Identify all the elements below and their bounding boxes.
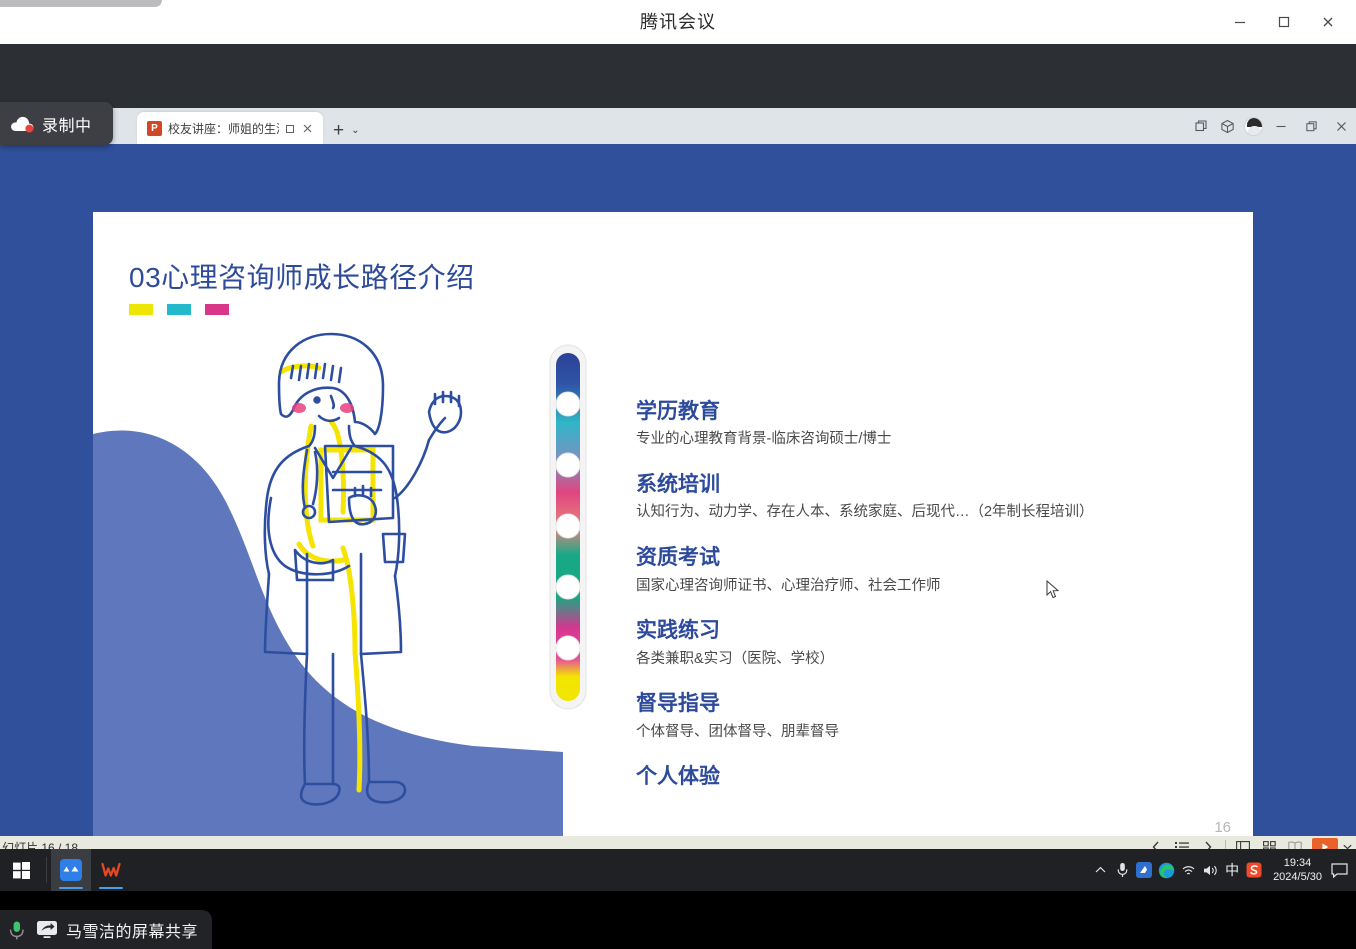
show-hidden-icons-button[interactable]: [1089, 849, 1111, 891]
edge-icon: [1158, 862, 1175, 879]
restore-icon: [1305, 120, 1318, 133]
wifi-icon: [1181, 864, 1196, 877]
presentation-canvas: 03心理咨询师成长路径介绍: [0, 144, 1356, 836]
notification-center-button[interactable]: [1326, 849, 1352, 891]
item-subtext: 专业的心理教育背景-临床咨询硕士/博士: [636, 429, 1236, 451]
active-indicator: [99, 887, 123, 889]
counselor-illustration: [93, 322, 563, 844]
screen-share-icon[interactable]: [36, 920, 58, 940]
maximize-icon: [1277, 15, 1291, 29]
taskbar-clock[interactable]: 19:34 2024/5/30: [1273, 856, 1322, 885]
counselor-line-art: [93, 322, 563, 844]
item-heading: 资质考试: [636, 544, 1236, 572]
wps-tabstrip: W 找稻壳模板 P 校友讲座：师姐的生涯参考会… + ⌄: [0, 108, 1356, 144]
volume-icon: [1203, 864, 1218, 877]
list-item: 系统培训 认知行为、动力学、存在人本、系统家庭、后现代…（2年制长程培训）: [636, 471, 1236, 524]
chevron-up-icon: [1095, 866, 1106, 874]
taskbar-item-meeting[interactable]: [51, 849, 91, 891]
wps-minimize-button[interactable]: [1266, 111, 1296, 141]
slide-title: 03心理咨询师成长路径介绍: [129, 256, 475, 296]
list-item: 实践练习 各类兼职&实习（医院、学校）: [636, 617, 1236, 670]
item-heading: 督导指导: [636, 690, 1236, 718]
meeting-window-controls: [1218, 4, 1350, 40]
list-item: 个人体验: [636, 763, 1236, 791]
wps-titlebar-right: [1188, 108, 1356, 144]
wps-tab-label: 校友讲座：师姐的生涯参考会…: [168, 120, 279, 137]
meeting-maximize-button[interactable]: [1262, 4, 1306, 40]
slide-content: 03心理咨询师成长路径介绍: [93, 212, 1253, 844]
slide-page-number: 16: [1214, 819, 1231, 836]
start-icon: [13, 862, 30, 879]
app-tray-icon[interactable]: [1133, 849, 1155, 891]
meeting-tab-stub: [0, 0, 162, 7]
microphone-icon: [1116, 862, 1129, 878]
colorbar-icon: [549, 344, 587, 710]
minimize-icon: [1233, 15, 1247, 29]
tencent-meeting-icon: [60, 859, 82, 881]
screen-root: 腾讯会议 W: [0, 0, 1356, 949]
tab-restore-icon[interactable]: [285, 122, 297, 134]
chevron-down-icon[interactable]: ⌄: [351, 125, 359, 136]
windows-taskbar: 中 19:34 2024/5/30: [0, 849, 1356, 891]
close-icon: [1335, 120, 1348, 133]
recording-indicator[interactable]: 录制中: [0, 102, 113, 145]
sogou-tray-icon[interactable]: [1243, 849, 1265, 891]
screen-share-label: 马雪洁的屏幕共享: [66, 918, 198, 942]
cube-icon[interactable]: [1214, 111, 1240, 141]
wps-window: W 找稻壳模板 P 校友讲座：师姐的生涯参考会… + ⌄: [0, 108, 1356, 856]
item-heading: 个人体验: [636, 763, 1236, 791]
growth-path-list: 学历教育 专业的心理教育背景-临床咨询硕士/博士 系统培训 认知行为、动力学、存…: [636, 398, 1236, 812]
wps-restore-button[interactable]: [1296, 111, 1326, 141]
plus-icon: +: [333, 121, 344, 140]
item-subtext: 个体督导、团体督导、朋辈督导: [636, 722, 1236, 744]
clock-date: 2024/5/30: [1273, 870, 1322, 884]
meeting-titlebar: 腾讯会议: [0, 0, 1356, 44]
item-heading: 系统培训: [636, 471, 1236, 499]
taskbar-divider: [46, 857, 47, 883]
clock-time: 19:34: [1284, 856, 1312, 870]
close-icon: [1321, 15, 1335, 29]
item-subtext: 认知行为、动力学、存在人本、系统家庭、后现代…（2年制长程培训）: [636, 502, 1236, 524]
volume-tray-icon[interactable]: [1199, 849, 1221, 891]
notification-icon: [1331, 863, 1348, 878]
microphone-tray-icon[interactable]: [1111, 849, 1133, 891]
item-subtext: 各类兼职&实习（医院、学校）: [636, 649, 1236, 671]
wps-icon: [100, 859, 122, 881]
progress-colorbar: [549, 344, 587, 710]
tab-close-icon[interactable]: [302, 123, 313, 134]
avatar[interactable]: [1240, 111, 1266, 141]
mouse-cursor: [1046, 580, 1060, 605]
list-item: 资质考试 国家心理咨询师证书、心理治疗师、社会工作师: [636, 544, 1236, 597]
ime-indicator[interactable]: 中: [1221, 849, 1243, 891]
accent-dash-yellow: [129, 304, 153, 315]
accent-dash-magenta: [205, 304, 229, 315]
accent-dash-cyan: [167, 304, 191, 315]
screen-share-bar: 马雪洁的屏幕共享: [0, 910, 1356, 949]
wps-close-button[interactable]: [1326, 111, 1356, 141]
avatar-icon: [1244, 117, 1263, 136]
minimize-icon: [1275, 120, 1287, 132]
item-heading: 学历教育: [636, 398, 1236, 426]
powerpoint-icon: P: [147, 121, 162, 136]
active-indicator: [59, 887, 83, 889]
screen-share-pill[interactable]: 马雪洁的屏幕共享: [0, 910, 212, 949]
recording-label: 录制中: [42, 112, 92, 136]
new-tab-button[interactable]: + ⌄: [333, 121, 360, 140]
system-tray: 中 19:34 2024/5/30: [1089, 849, 1356, 891]
meeting-minimize-button[interactable]: [1218, 4, 1262, 40]
item-subtext: 国家心理咨询师证书、心理治疗师、社会工作师: [636, 576, 1236, 598]
item-heading: 实践练习: [636, 617, 1236, 645]
start-button[interactable]: [0, 849, 42, 891]
window-restore-icon[interactable]: [1188, 111, 1214, 141]
taskbar-item-wps[interactable]: [91, 849, 131, 891]
cloud-record-icon: [10, 115, 36, 133]
meeting-window-title: 腾讯会议: [0, 8, 1356, 34]
accent-dashes: [129, 304, 229, 315]
edge-tray-icon[interactable]: [1155, 849, 1177, 891]
meeting-close-button[interactable]: [1306, 4, 1350, 40]
list-item: 督导指导 个体督导、团体督导、朋辈督导: [636, 690, 1236, 743]
microphone-icon[interactable]: [6, 919, 28, 941]
wifi-tray-icon[interactable]: [1177, 849, 1199, 891]
list-item: 学历教育 专业的心理教育背景-临床咨询硕士/博士: [636, 398, 1236, 451]
wps-tab-presentation[interactable]: P 校友讲座：师姐的生涯参考会…: [137, 112, 323, 144]
